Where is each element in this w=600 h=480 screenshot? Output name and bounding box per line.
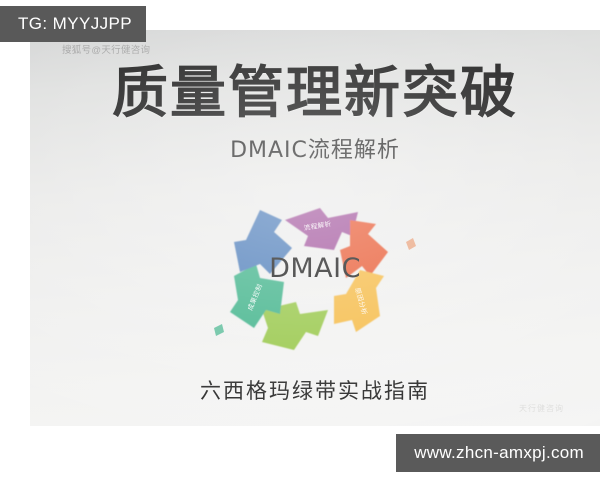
dmaic-cycle-diagram: 流程解析 原因分析 成果控制 DMAIC [200, 190, 430, 362]
cycle-segment-review [234, 210, 292, 274]
telegram-handle-badge: TG: MYYJJPP [0, 6, 146, 42]
slide-corner-watermark: 天行健咨询 [519, 403, 564, 414]
slide-image: 搜狐号@天行健咨询 质量管理新突破 DMAIC流程解析 [30, 30, 600, 426]
slide-subtitle: DMAIC流程解析 [30, 140, 600, 162]
slide-tagline: 六西格玛绿带实战指南 [30, 375, 600, 405]
source-watermark: 搜狐号@天行健咨询 [62, 46, 150, 56]
spark-right-icon [406, 238, 416, 250]
spark-left-icon [214, 324, 224, 336]
slide-title: 质量管理新突破 [30, 66, 600, 122]
website-url-badge: www.zhcn-amxpj.com [396, 434, 600, 472]
